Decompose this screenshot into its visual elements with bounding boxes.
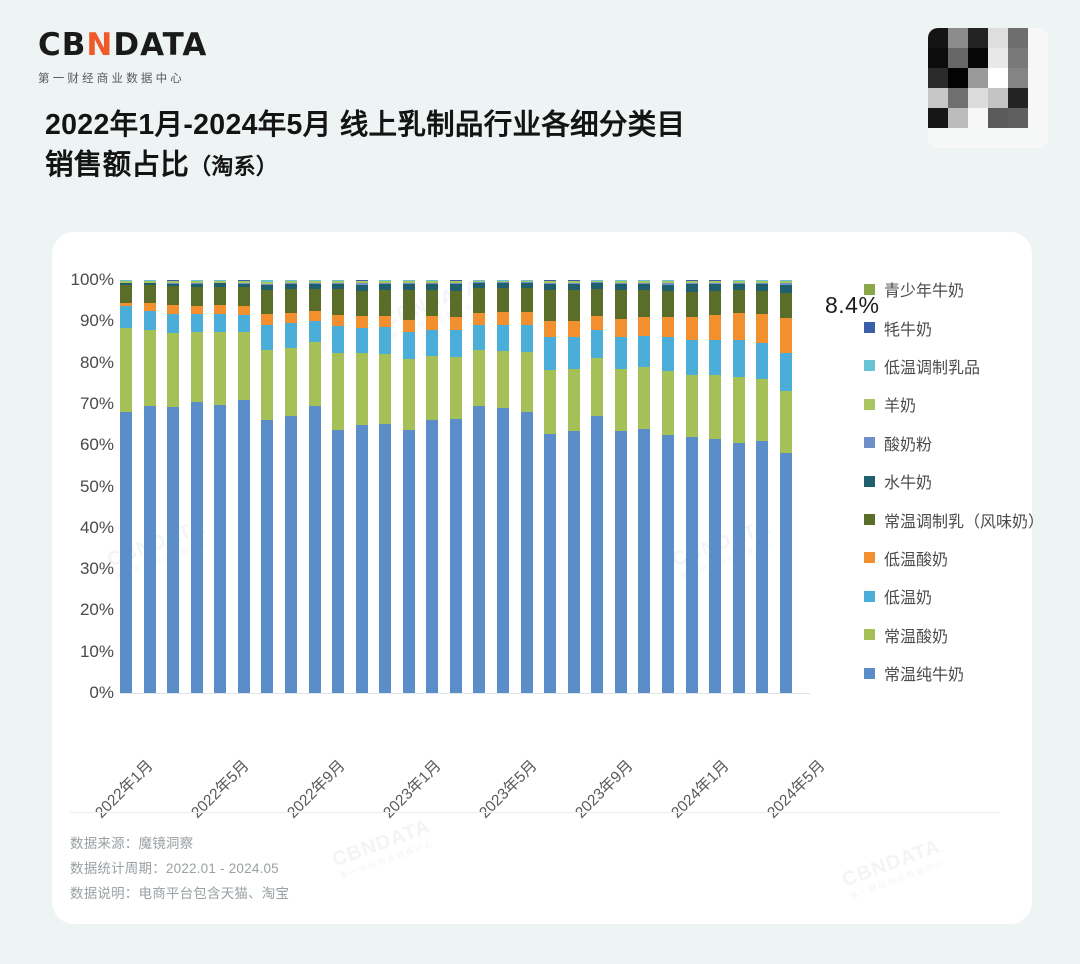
bar-segment [591, 289, 603, 316]
qr-cell [1008, 128, 1028, 148]
bar-column[interactable] [379, 280, 391, 693]
bar-segment [662, 337, 674, 370]
chart-card: CBNDATA第一财经商业数据中心 CBNDATA第一财经商业数据中心 CBND… [52, 232, 1032, 924]
bar-segment [191, 314, 203, 331]
bar-segment [214, 287, 226, 306]
bar-column[interactable] [662, 280, 674, 693]
bar-segment [285, 348, 297, 416]
bar-column[interactable] [733, 280, 745, 693]
bar-segment [332, 289, 344, 315]
qr-cell [1008, 68, 1028, 88]
x-axis-labels: 2022年1月2022年5月2022年9月2023年1月2023年5月2023年… [120, 702, 792, 792]
qr-cell [1008, 108, 1028, 128]
bar-segment [591, 358, 603, 416]
qr-cell [968, 128, 988, 148]
legend-swatch-icon [864, 591, 875, 602]
bar-segment [497, 351, 509, 409]
bar-segment [332, 430, 344, 693]
page-title-line1: 2022年1月-2024年5月 线上乳制品行业各细分类目 [45, 105, 865, 145]
legend-item[interactable]: 水牛奶 [864, 462, 1034, 500]
bar-segment [615, 369, 627, 431]
bar-segment [686, 375, 698, 437]
bar-segment [568, 321, 580, 337]
bar-segment [662, 317, 674, 338]
legend-swatch-icon [864, 668, 875, 679]
poster-root: CBNDATA 第一财经商业数据中心 2022年1月-2024年5月 线上乳制品… [0, 0, 1080, 964]
bar-segment [662, 291, 674, 317]
legend-item[interactable]: 低温调制乳品 [864, 347, 1034, 385]
bar-segment [780, 391, 792, 453]
bar-segment [167, 333, 179, 407]
bar-segment [521, 312, 533, 326]
bar-segment [497, 325, 509, 351]
bar-segment [214, 405, 226, 693]
y-axis-tick-label: 0% [89, 683, 114, 703]
bar-segment [780, 285, 792, 293]
bar-segment [497, 288, 509, 312]
footer-period: 数据统计周期：2022.01 - 2024.05 [70, 857, 289, 882]
bar-column[interactable] [450, 280, 462, 693]
bar-segment [473, 325, 485, 350]
watermark: CBNDATA第一财经商业数据中心 [329, 815, 437, 882]
bar-segment [426, 316, 438, 329]
bar-column[interactable] [309, 280, 321, 693]
legend-swatch-icon [864, 284, 875, 295]
legend-swatch-icon [864, 476, 875, 487]
bar-segment [544, 290, 556, 321]
qr-cell [968, 88, 988, 108]
qr-cell [988, 68, 1008, 88]
bar-segment [780, 453, 792, 693]
bar-segment [638, 429, 650, 693]
page-title-line2: 销售额占比 [45, 149, 189, 181]
bar-segment [450, 357, 462, 419]
bar-segment [568, 337, 580, 369]
bar-segment [238, 315, 250, 332]
bar-segment [144, 330, 156, 406]
bar-segment [379, 290, 391, 316]
logo-text-post: DATA [113, 27, 207, 63]
y-axis-tick-label: 50% [80, 477, 114, 497]
bar-segment [379, 316, 391, 328]
chart-legend: 青少年牛奶牦牛奶低温调制乳品羊奶酸奶粉水牛奶常温调制乳（风味奶）低温酸奶低温奶常… [864, 270, 1034, 692]
bar-segment [261, 350, 273, 420]
bar-segment [403, 320, 415, 332]
qr-cell [948, 68, 968, 88]
bar-segment [379, 354, 391, 424]
bar-segment [167, 314, 179, 333]
bar-column[interactable] [238, 280, 250, 693]
bar-segment [144, 406, 156, 693]
bar-segment [214, 332, 226, 404]
bar-segment [238, 287, 250, 306]
legend-item[interactable]: 常温调制乳（风味奶） [864, 500, 1034, 538]
footer-notes: 数据来源：魔镜洞察 数据统计周期：2022.01 - 2024.05 数据说明：… [70, 832, 289, 907]
bar-segment [285, 323, 297, 348]
bar-segment [285, 313, 297, 324]
bar-segment [238, 306, 250, 315]
brand-block: CBNDATA 第一财经商业数据中心 [38, 30, 207, 86]
qr-cell [988, 108, 1008, 128]
legend-label: 低温调制乳品 [884, 354, 980, 378]
legend-item[interactable]: 常温酸奶 [864, 616, 1034, 654]
bar-segment [167, 407, 179, 693]
legend-label: 常温酸奶 [884, 623, 948, 647]
qr-cell [1028, 68, 1048, 88]
bar-segment [403, 290, 415, 320]
y-axis-tick-label: 30% [80, 559, 114, 579]
bar-segment [450, 291, 462, 317]
bar-segment [497, 312, 509, 325]
bar-segment [638, 317, 650, 336]
bar-segment [521, 288, 533, 312]
legend-item[interactable]: 常温纯牛奶 [864, 654, 1034, 692]
y-axis-labels: 0%10%20%30%40%50%60%70%80%90%100% [52, 280, 114, 693]
bar-segment [615, 290, 627, 319]
bar-segment [733, 443, 745, 693]
qr-cell [928, 108, 948, 128]
bar-segment [686, 284, 698, 291]
bar-segment [733, 284, 745, 291]
bar-segment [261, 314, 273, 324]
y-axis-tick-label: 80% [80, 353, 114, 373]
bar-segment [544, 321, 556, 337]
bar-segment [733, 377, 745, 443]
y-axis-tick-label: 40% [80, 518, 114, 538]
bar-column[interactable] [261, 280, 273, 693]
qr-cell [928, 128, 948, 148]
bar-segment [285, 289, 297, 313]
legend-label: 水牛奶 [884, 469, 932, 493]
bar-segment [521, 325, 533, 352]
bar-segment [309, 342, 321, 406]
qr-cell [948, 28, 968, 48]
cbndata-logo: CBNDATA [38, 30, 207, 61]
bar-segment [638, 367, 650, 429]
qr-cell [968, 28, 988, 48]
bar-segment [332, 353, 344, 429]
qr-cell [1028, 28, 1048, 48]
bar-segment [709, 439, 721, 693]
stacked-bar-chart: 0%10%20%30%40%50%60%70%80%90%100% 2022年1… [52, 232, 1032, 792]
bar-segment [450, 419, 462, 693]
bar-segment [403, 284, 415, 291]
bar-column[interactable] [756, 280, 768, 693]
bar-segment [709, 315, 721, 340]
legend-swatch-icon [864, 322, 875, 333]
bar-column[interactable] [473, 280, 485, 693]
bar-segment [450, 284, 462, 291]
bar-column[interactable] [332, 280, 344, 693]
bar-segment [144, 285, 156, 302]
bar-segment [214, 305, 226, 314]
legend-swatch-icon [864, 437, 875, 448]
y-axis-tick-label: 60% [80, 435, 114, 455]
bar-segment [591, 330, 603, 358]
legend-swatch-icon [864, 399, 875, 410]
bar-segment [426, 356, 438, 420]
bar-column[interactable] [214, 280, 226, 693]
qr-cell [928, 68, 948, 88]
bar-segment [426, 290, 438, 317]
qr-cell [948, 108, 968, 128]
bar-column[interactable] [497, 280, 509, 693]
qr-cell [948, 48, 968, 68]
bar-segment [214, 314, 226, 332]
qr-cell [1028, 88, 1048, 108]
bar-column[interactable] [285, 280, 297, 693]
qr-cell [988, 128, 1008, 148]
bar-column[interactable] [686, 280, 698, 693]
bar-segment [332, 315, 344, 327]
qr-code-icon[interactable] [928, 28, 1048, 148]
bar-segment [144, 303, 156, 311]
bar-segment [568, 431, 580, 693]
bar-segment [686, 340, 698, 375]
bar-column[interactable] [591, 280, 603, 693]
bar-segment [120, 412, 132, 693]
bar-segment [332, 326, 344, 353]
bar-segment [638, 336, 650, 367]
bar-segment [544, 370, 556, 434]
bar-segment [709, 375, 721, 439]
footer-divider [70, 812, 1000, 813]
qr-cell [1008, 48, 1028, 68]
bar-segment [238, 332, 250, 400]
qr-cell [1008, 28, 1028, 48]
legend-item[interactable]: 低温酸奶 [864, 539, 1034, 577]
bar-segment [615, 337, 627, 369]
qr-cell [988, 48, 1008, 68]
qr-cell [928, 48, 948, 68]
legend-label: 牦牛奶 [884, 316, 932, 340]
qr-cell [1028, 48, 1048, 68]
qr-cell [968, 48, 988, 68]
legend-label: 低温酸奶 [884, 546, 948, 570]
page-title: 2022年1月-2024年5月 线上乳制品行业各细分类目 销售额占比（淘系） [45, 105, 865, 186]
footer-note: 数据说明：电商平台包含天猫、淘宝 [70, 882, 289, 907]
bar-segment [450, 330, 462, 356]
qr-cell [948, 128, 968, 148]
bar-segment [686, 437, 698, 693]
legend-swatch-icon [864, 514, 875, 525]
bar-segment [497, 408, 509, 693]
qr-cell [948, 88, 968, 108]
bar-segment [120, 285, 132, 302]
bar-segment [450, 317, 462, 330]
bar-segment [191, 306, 203, 315]
brand-subtitle: 第一财经商业数据中心 [38, 70, 207, 86]
bar-segment [568, 290, 580, 321]
bar-group [120, 280, 792, 693]
bar-segment [426, 420, 438, 693]
legend-item[interactable]: 牦牛奶 [864, 308, 1034, 346]
legend-label: 酸奶粉 [884, 431, 932, 455]
bar-segment [191, 332, 203, 402]
bar-column[interactable] [426, 280, 438, 693]
bar-segment [356, 316, 368, 328]
bar-segment [191, 287, 203, 306]
bar-segment [356, 353, 368, 425]
bar-segment [261, 325, 273, 351]
legend-swatch-icon [864, 552, 875, 563]
legend-label: 羊奶 [884, 392, 916, 416]
bar-segment [780, 353, 792, 391]
bar-segment [356, 291, 368, 316]
bar-segment [473, 350, 485, 406]
bar-segment [756, 343, 768, 379]
bar-column[interactable] [544, 280, 556, 693]
bar-segment [120, 328, 132, 413]
bar-segment [379, 327, 391, 353]
bar-segment [521, 352, 533, 412]
bar-segment [167, 286, 179, 305]
bar-column[interactable] [144, 280, 156, 693]
qr-cell [1028, 108, 1048, 128]
bar-segment [356, 425, 368, 693]
bar-segment [756, 284, 768, 291]
bar-segment [403, 430, 415, 693]
page-title-line2-sub: （淘系） [189, 154, 278, 179]
bar-segment [238, 400, 250, 693]
legend-item[interactable]: 青少年牛奶 [864, 270, 1034, 308]
bar-segment [544, 434, 556, 693]
bar-segment [473, 288, 485, 313]
bar-segment [521, 412, 533, 693]
bar-column[interactable] [403, 280, 415, 693]
plot-area [120, 280, 792, 693]
bar-segment [144, 311, 156, 330]
bar-segment [473, 406, 485, 693]
bar-segment [120, 306, 132, 327]
bar-segment [473, 313, 485, 325]
bar-segment [309, 406, 321, 693]
bar-segment [309, 311, 321, 321]
bar-column[interactable] [120, 280, 132, 693]
bar-segment [756, 314, 768, 343]
y-axis-tick-label: 100% [71, 270, 114, 290]
bar-column[interactable] [709, 280, 721, 693]
bar-segment [638, 290, 650, 317]
bar-segment [379, 424, 391, 693]
bar-segment [662, 435, 674, 693]
legend-label: 常温调制乳（风味奶） [884, 508, 1044, 532]
bar-segment [167, 305, 179, 314]
watermark: CBNDATA第一财经商业数据中心 [839, 835, 947, 902]
bar-segment [285, 416, 297, 693]
y-axis-tick-label: 20% [80, 600, 114, 620]
legend-label: 青少年牛奶 [884, 277, 964, 301]
bar-column[interactable] [356, 280, 368, 693]
bar-segment [591, 416, 603, 693]
bar-segment [403, 359, 415, 429]
legend-swatch-icon [864, 360, 875, 371]
qr-cell [988, 88, 1008, 108]
bar-segment [191, 402, 203, 693]
bar-column[interactable] [167, 280, 179, 693]
logo-text-pre: CB [38, 27, 86, 63]
bar-segment [615, 319, 627, 336]
logo-text-accent: N [86, 27, 113, 63]
qr-cell [1028, 128, 1048, 148]
bar-segment [544, 337, 556, 370]
bar-segment [756, 379, 768, 441]
bar-segment [756, 441, 768, 693]
qr-cell [1008, 88, 1028, 108]
bar-segment [662, 371, 674, 435]
qr-cell [928, 88, 948, 108]
bar-segment [686, 317, 698, 340]
qr-cell [968, 68, 988, 88]
bar-segment [568, 369, 580, 431]
y-axis-tick-label: 70% [80, 394, 114, 414]
legend-item[interactable]: 酸奶粉 [864, 424, 1034, 462]
bar-segment [709, 291, 721, 315]
y-axis-tick-label: 90% [80, 311, 114, 331]
x-axis-line [120, 693, 810, 694]
bar-column[interactable] [638, 280, 650, 693]
y-axis-tick-label: 10% [80, 642, 114, 662]
bar-segment [261, 420, 273, 693]
legend-item[interactable]: 低温奶 [864, 577, 1034, 615]
bar-segment [733, 340, 745, 377]
bar-segment [686, 292, 698, 318]
bar-column[interactable] [568, 280, 580, 693]
bar-segment [662, 285, 674, 292]
bar-column[interactable] [191, 280, 203, 693]
bar-segment [261, 290, 273, 315]
bar-column[interactable] [780, 280, 792, 693]
bar-column[interactable] [615, 280, 627, 693]
bar-segment [591, 316, 603, 330]
legend-label: 常温纯牛奶 [884, 661, 964, 685]
bar-segment [733, 313, 745, 340]
bar-segment [733, 290, 745, 313]
bar-segment [709, 340, 721, 375]
bar-segment [780, 318, 792, 353]
footer-source: 数据来源：魔镜洞察 [70, 832, 289, 857]
bar-segment [615, 431, 627, 693]
qr-cell [968, 108, 988, 128]
bar-segment [756, 291, 768, 314]
bar-segment [309, 289, 321, 311]
bar-segment [780, 293, 792, 319]
legend-swatch-icon [864, 629, 875, 640]
bar-column[interactable] [521, 280, 533, 693]
qr-cell [988, 28, 1008, 48]
qr-cell [928, 28, 948, 48]
bar-segment [403, 332, 415, 359]
bar-segment [356, 328, 368, 354]
legend-item[interactable]: 羊奶 [864, 385, 1034, 423]
bar-segment [426, 330, 438, 357]
legend-label: 低温奶 [884, 584, 932, 608]
bar-segment [709, 284, 721, 291]
bar-segment [309, 321, 321, 342]
